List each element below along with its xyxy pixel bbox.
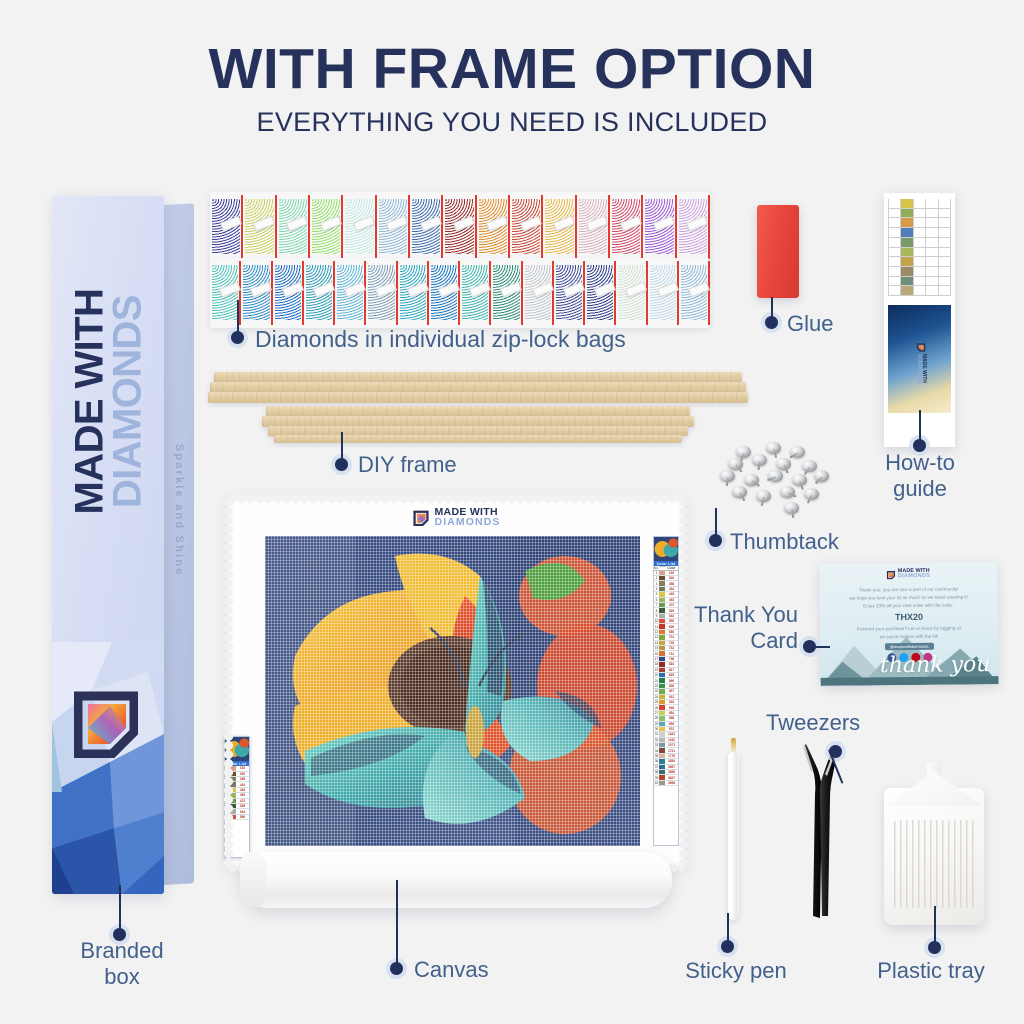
- guide-table-cell: [914, 199, 925, 209]
- label-glue: Glue: [787, 311, 833, 337]
- guide-table-cell: [939, 257, 950, 267]
- guide-table-cell: [889, 199, 900, 209]
- card-url-chip: @madewithdiamonds: [885, 643, 934, 651]
- guide-table-cell: [889, 267, 900, 277]
- guide-table-cell: [914, 248, 925, 258]
- guide-table-col: [938, 199, 951, 296]
- thank-you-card: MADE WITH DIAMONDS Thank you, you are no…: [819, 562, 998, 686]
- diamond-bag: [343, 192, 376, 262]
- color-row-code: 300: [665, 576, 678, 580]
- guide-table-cell: [914, 209, 925, 219]
- guide-table-cell: [901, 199, 912, 209]
- color-row-code: 1071: [665, 743, 678, 747]
- thumbtack: [792, 474, 807, 486]
- color-row-code: 920: [665, 700, 678, 704]
- guide-table-cell: [889, 277, 900, 287]
- guide-table-cell: [926, 209, 937, 219]
- diamond-bag: [241, 258, 272, 328]
- diamond-bag: [577, 192, 610, 262]
- guide-table-cell: [889, 228, 900, 238]
- thumbtack: [736, 446, 751, 458]
- diamond-bag: [304, 258, 335, 328]
- guide-table-cell: [901, 248, 912, 258]
- guide-table-cell: [926, 267, 937, 277]
- label-tweezers: Tweezers: [766, 710, 860, 736]
- color-list-thumbnail: [654, 537, 678, 561]
- guide-table-cell: [926, 257, 937, 267]
- diamond-bag: [610, 192, 643, 262]
- callout-line-sticky-pen: [727, 913, 729, 943]
- guide-table-cell: [914, 228, 925, 238]
- thumbtack: [752, 454, 767, 466]
- label-sticky-pen: Sticky pen: [676, 958, 796, 984]
- label-canvas: Canvas: [414, 957, 489, 983]
- color-row-code: 152: [665, 571, 678, 575]
- diamond-bag: [679, 258, 710, 328]
- artwork-diamond-grid: [265, 536, 640, 846]
- diamond-bag: [543, 192, 576, 262]
- box-tagline: Sparkle and Shine: [173, 443, 185, 576]
- canvas-logo-text: MADE WITH DIAMONDS: [435, 507, 501, 528]
- guide-table-cell: [901, 257, 912, 267]
- pen-body: [728, 752, 739, 920]
- bag-zip-strip: [708, 195, 710, 259]
- page-title: WITH FRAME OPTION: [0, 36, 1024, 102]
- label-thumbtack: Thumbtack: [730, 529, 839, 555]
- callout-line-bags: [237, 300, 239, 334]
- color-row-code: 535: [236, 804, 249, 808]
- canvas-edge-top: [228, 494, 684, 503]
- diamond-logo-icon: [412, 509, 430, 526]
- guide-table-cell: [889, 257, 900, 267]
- guide-table-cell: [914, 238, 925, 248]
- canvas: MADE WITH DIAMONDS: [228, 498, 684, 918]
- guide-table-cell: [914, 267, 925, 277]
- sticky-pen: [727, 738, 740, 920]
- guide-table-cell: [939, 238, 950, 248]
- diamond-bag: [210, 192, 243, 262]
- guide-table-cell: [889, 248, 900, 258]
- color-row-code: 472: [236, 799, 249, 803]
- guide-table-cell: [889, 209, 900, 219]
- diamond-logo-icon: [887, 570, 896, 579]
- color-row-code: 358: [236, 777, 249, 781]
- diamond-bag: [477, 192, 510, 262]
- diamond-bag: [616, 258, 647, 328]
- color-row-code: 972: [665, 727, 678, 731]
- guide-table-cell: [901, 286, 912, 296]
- thumbtack: [728, 458, 743, 470]
- guide-table-cell: [914, 277, 925, 287]
- frame-bar-7: [274, 435, 682, 443]
- color-row-code: 300: [236, 772, 249, 776]
- color-row-code: 954: [665, 711, 678, 715]
- color-row-code: 1023: [665, 732, 678, 736]
- color-row-code: 3896: [665, 781, 678, 785]
- diamond-bag: [585, 258, 616, 328]
- diamond-bag: [310, 192, 343, 262]
- color-row-code: 434: [236, 783, 249, 787]
- infographic-canvas: WITH FRAME OPTION EVERYTHING YOU NEED IS…: [0, 0, 1024, 1024]
- color-row-code: 445: [236, 788, 249, 792]
- label-diy-frame: DIY frame: [358, 452, 457, 478]
- thumbtack: [756, 490, 771, 502]
- guide-table-cell: [889, 218, 900, 228]
- callout-line-thank-you-card: [806, 646, 830, 648]
- diamond-bag: [523, 258, 554, 328]
- box-side-panel: Sparkle and Shine: [164, 203, 194, 885]
- guide-table-cell: [901, 209, 912, 219]
- diamond-bag: [648, 258, 679, 328]
- color-row-code: 912: [665, 695, 678, 699]
- guide-table-cell: [914, 286, 925, 296]
- box-brand-line1: MADE WITH: [71, 257, 109, 547]
- canvas-sheet: MADE WITH DIAMONDS: [228, 498, 684, 868]
- diamond-bag: [643, 192, 676, 262]
- thumbtack: [802, 460, 817, 472]
- thumbtack: [744, 474, 759, 486]
- box-front-panel: MADE WITH DIAMONDS: [52, 196, 164, 894]
- guide-table-cell: [889, 238, 900, 248]
- thumbtack: [814, 470, 829, 482]
- thumbtacks-group: [714, 440, 844, 518]
- color-row-code: 152: [236, 766, 249, 770]
- color-row-code: 825: [665, 673, 678, 677]
- color-row-code: 1032: [665, 738, 678, 742]
- diamond-bags-row-1: [210, 192, 710, 262]
- color-row-code: 445: [665, 592, 678, 596]
- diamond-bag: [677, 192, 710, 262]
- label-plastic-tray: Plastic tray: [856, 958, 1006, 984]
- color-row-code: 946: [665, 706, 678, 710]
- glue-stick: [757, 205, 799, 298]
- frame-bar-3: [208, 392, 748, 403]
- diamond-logo-icon: [917, 343, 926, 352]
- guide-table-cell: [926, 218, 937, 228]
- canvas-edge-right: [679, 498, 688, 868]
- guide-table-col: [900, 199, 912, 296]
- bag-zip-strip: [708, 261, 710, 325]
- card-thank-you-signature: thank you: [880, 656, 991, 675]
- guide-table-cell: [889, 286, 900, 296]
- branded-box: Sparkle and Shine MADE WITH DIAMONDS: [52, 196, 198, 894]
- guide-table-cell: [926, 277, 937, 287]
- diamond-logo-icon: [74, 684, 138, 758]
- guide-table-cell: [926, 199, 937, 209]
- thumbtack: [784, 502, 799, 514]
- box-polygon-pattern: [52, 642, 164, 894]
- guide-table-cell: [901, 228, 912, 238]
- diy-frame: [208, 372, 748, 454]
- color-row-code: 817: [665, 668, 678, 672]
- color-row-code: 3854: [665, 759, 678, 763]
- guide-table-cell: [939, 248, 950, 258]
- color-row-code: 434: [665, 587, 678, 591]
- card-logo: MADE WITH DIAMONDS: [819, 568, 997, 580]
- canvas-logo-line2: DIAMONDS: [435, 517, 501, 527]
- diamond-bag: [243, 192, 276, 262]
- guide-table-cell: [926, 228, 937, 238]
- card-promo-code: THX20: [820, 611, 998, 623]
- guide-table-cell: [926, 248, 937, 258]
- canvas-edge-left: [224, 498, 233, 868]
- guide-table-cell: [939, 277, 950, 287]
- thumbtack: [776, 458, 791, 470]
- color-row-code: 907: [665, 689, 678, 693]
- diamond-bag: [377, 192, 410, 262]
- guide-table-cell: [901, 218, 912, 228]
- color-row-code: 550: [236, 815, 249, 819]
- card-logo-line2: DIAMONDS: [898, 574, 930, 580]
- callout-line-plastic-tray: [934, 906, 936, 944]
- thumbtack: [720, 470, 735, 482]
- color-row-code: 3827: [665, 776, 678, 780]
- canvas-roll: [240, 852, 672, 908]
- diamond-bag: [491, 258, 522, 328]
- guide-table-cell: [926, 238, 937, 248]
- callout-line-glue: [771, 297, 773, 319]
- thumbtack: [732, 486, 747, 498]
- color-row-code: 834: [665, 662, 678, 666]
- guide-logo: MADE WITH DIAMONDS: [917, 343, 927, 384]
- plastic-tray: [884, 762, 984, 925]
- canvas-artwork: [265, 536, 640, 846]
- callout-line-thumbtack: [715, 508, 717, 537]
- thumbtack: [790, 446, 805, 458]
- color-list-right: Color List No. Symbol Color 115223003358…: [653, 536, 679, 846]
- guide-table-cell: [939, 267, 950, 277]
- label-thank-you-card: Thank You Card: [662, 602, 798, 654]
- guide-table-cell: [901, 267, 912, 277]
- diamond-bag: [277, 192, 310, 262]
- diamond-bag: [398, 258, 429, 328]
- tray-ridges: [894, 820, 974, 908]
- guide-table-cell: [901, 238, 912, 248]
- color-row-code: 796: [665, 657, 678, 661]
- thumbtack: [780, 486, 795, 498]
- label-branded-box: Branded box: [62, 938, 182, 990]
- guide-table-cell: [901, 277, 912, 287]
- color-row-code: 3857: [665, 765, 678, 769]
- guide-table-cell: [939, 218, 950, 228]
- callout-line-diy-frame: [341, 432, 343, 461]
- thumbtack: [766, 442, 781, 454]
- guide-table-col: [888, 199, 900, 296]
- box-brand-text: MADE WITH DIAMONDS: [71, 257, 146, 547]
- guide-table-cell: [939, 286, 950, 296]
- diamond-bag: [410, 192, 443, 262]
- canvas-logo-header: MADE WITH DIAMONDS: [228, 507, 684, 528]
- col-color: Color: [665, 566, 678, 569]
- diamond-bags-row-2: [210, 258, 710, 328]
- diamond-bag: [273, 258, 304, 328]
- thumbtack: [804, 488, 819, 500]
- how-to-guide: MADE WITH DIAMONDS: [884, 193, 955, 447]
- guide-table-col: [925, 199, 937, 296]
- color-row-code: 1776: [665, 754, 678, 758]
- guide-table-cell: [914, 257, 925, 267]
- guide-table-cell: [939, 209, 950, 219]
- diamond-bag: [429, 258, 460, 328]
- color-row-code: 890: [665, 679, 678, 683]
- label-diamond-bags: Diamonds in individual zip-lock bags: [255, 326, 626, 353]
- color-row-code: 453: [236, 793, 249, 797]
- guide-table-cell: [939, 199, 950, 209]
- diamond-bag: [443, 192, 476, 262]
- diamond-bag: [335, 258, 366, 328]
- box-brand-line2: DIAMONDS: [109, 257, 147, 547]
- guide-logo-line2: DIAMONDS: [917, 354, 922, 384]
- page-subtitle: EVERYTHING YOU NEED IS INCLUDED: [0, 107, 1024, 138]
- diamond-bag: [366, 258, 397, 328]
- guide-table-cell: [914, 218, 925, 228]
- guide-table-cell: [939, 228, 950, 238]
- color-row-code: 3858: [665, 770, 678, 774]
- diamond-bag: [554, 258, 585, 328]
- guide-table-cell: [926, 286, 937, 296]
- color-row-code: 1721: [665, 749, 678, 753]
- callout-line-how-to-guide: [919, 410, 921, 442]
- color-row-code: 906: [665, 684, 678, 688]
- color-row-code: 958: [665, 716, 678, 720]
- thumbtack: [768, 470, 783, 482]
- color-row-code: 959: [665, 722, 678, 726]
- color-row-code: 543: [236, 810, 249, 814]
- diamond-bag: [460, 258, 491, 328]
- color-row-code: 358: [665, 582, 678, 586]
- callout-line-branded-box: [119, 885, 121, 930]
- callout-line-canvas: [396, 880, 398, 966]
- guide-color-table: [888, 199, 951, 296]
- diamond-bag: [510, 192, 543, 262]
- label-how-to-guide: How-to guide: [860, 450, 980, 502]
- color-list-row: 403896: [654, 781, 678, 786]
- guide-table-col: [913, 199, 925, 296]
